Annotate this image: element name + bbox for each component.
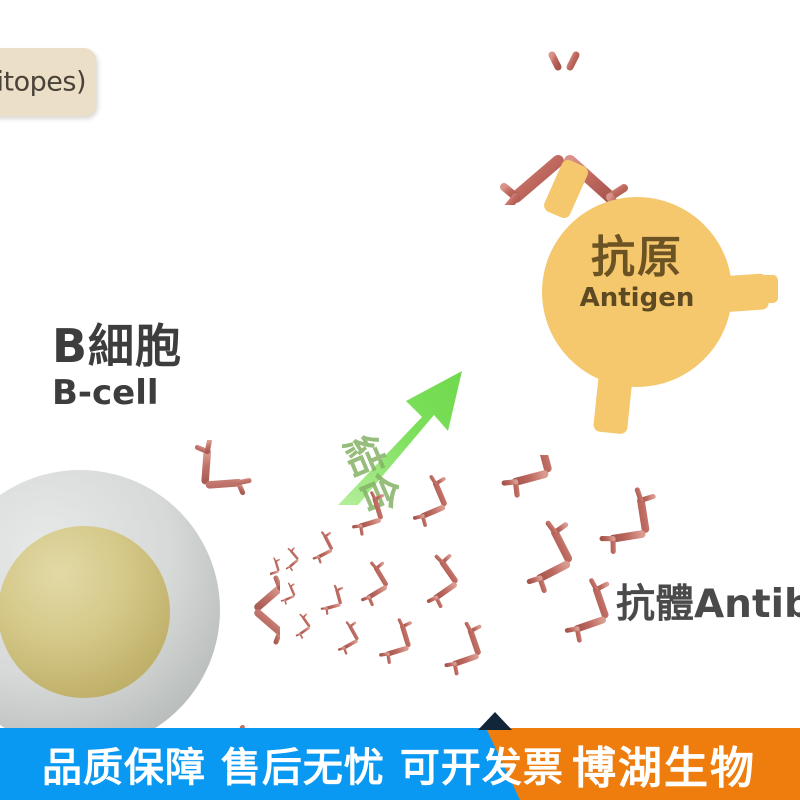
diagram-canvas: (Epitopes) [0, 0, 800, 800]
antibody-label: 抗體Antibody [616, 573, 800, 629]
bcell-label-cn: B細胞 [52, 322, 182, 371]
epitopes-callout: (Epitopes) [0, 48, 96, 116]
bcell-group [0, 440, 280, 770]
bcell-label-en: B-cell [52, 375, 182, 411]
banner-brand: 博湖生物 [572, 732, 756, 796]
antigen-group: 抗原 Antigen [520, 175, 800, 455]
banner-slogan: 品质保障 售后无忧 可开发票 [42, 735, 564, 793]
antigen-body [542, 197, 732, 387]
epitope-stub-bottom [593, 369, 633, 434]
banner-notch-icon [478, 712, 512, 730]
bcell-label: B細胞 B-cell [52, 322, 182, 411]
epitopes-callout-label: (Epitopes) [0, 67, 86, 98]
bcell-nucleus [0, 526, 170, 698]
bottom-banner: 品质保障 售后无忧 可开发票 博湖生物 [0, 728, 800, 800]
epitope-stub-right-outer [752, 275, 778, 303]
